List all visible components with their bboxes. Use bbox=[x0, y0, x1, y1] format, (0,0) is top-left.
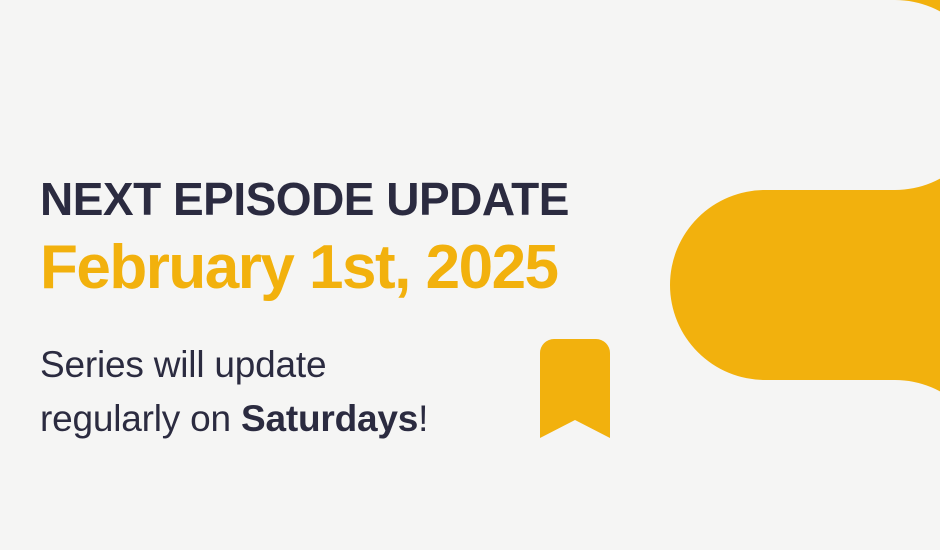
schedule-line-two: regularly on Saturdays! bbox=[40, 392, 428, 446]
page-title: NEXT EPISODE UPDATE bbox=[40, 176, 569, 222]
release-date: February 1st, 2025 bbox=[40, 237, 558, 299]
banner-content: NEXT EPISODE UPDATE February 1st, 2025 S… bbox=[40, 0, 660, 550]
schedule-line-one: Series will update bbox=[40, 338, 428, 392]
bookmark-icon bbox=[540, 339, 610, 438]
schedule-day-emphasis: Saturdays bbox=[241, 398, 418, 439]
episode-update-banner: NEXT EPISODE UPDATE February 1st, 2025 S… bbox=[0, 0, 940, 550]
wave-edge-decoration bbox=[640, 0, 940, 550]
schedule-suffix: ! bbox=[418, 398, 428, 439]
schedule-prefix: regularly on bbox=[40, 398, 241, 439]
schedule-description: Series will update regularly on Saturday… bbox=[40, 338, 428, 446]
